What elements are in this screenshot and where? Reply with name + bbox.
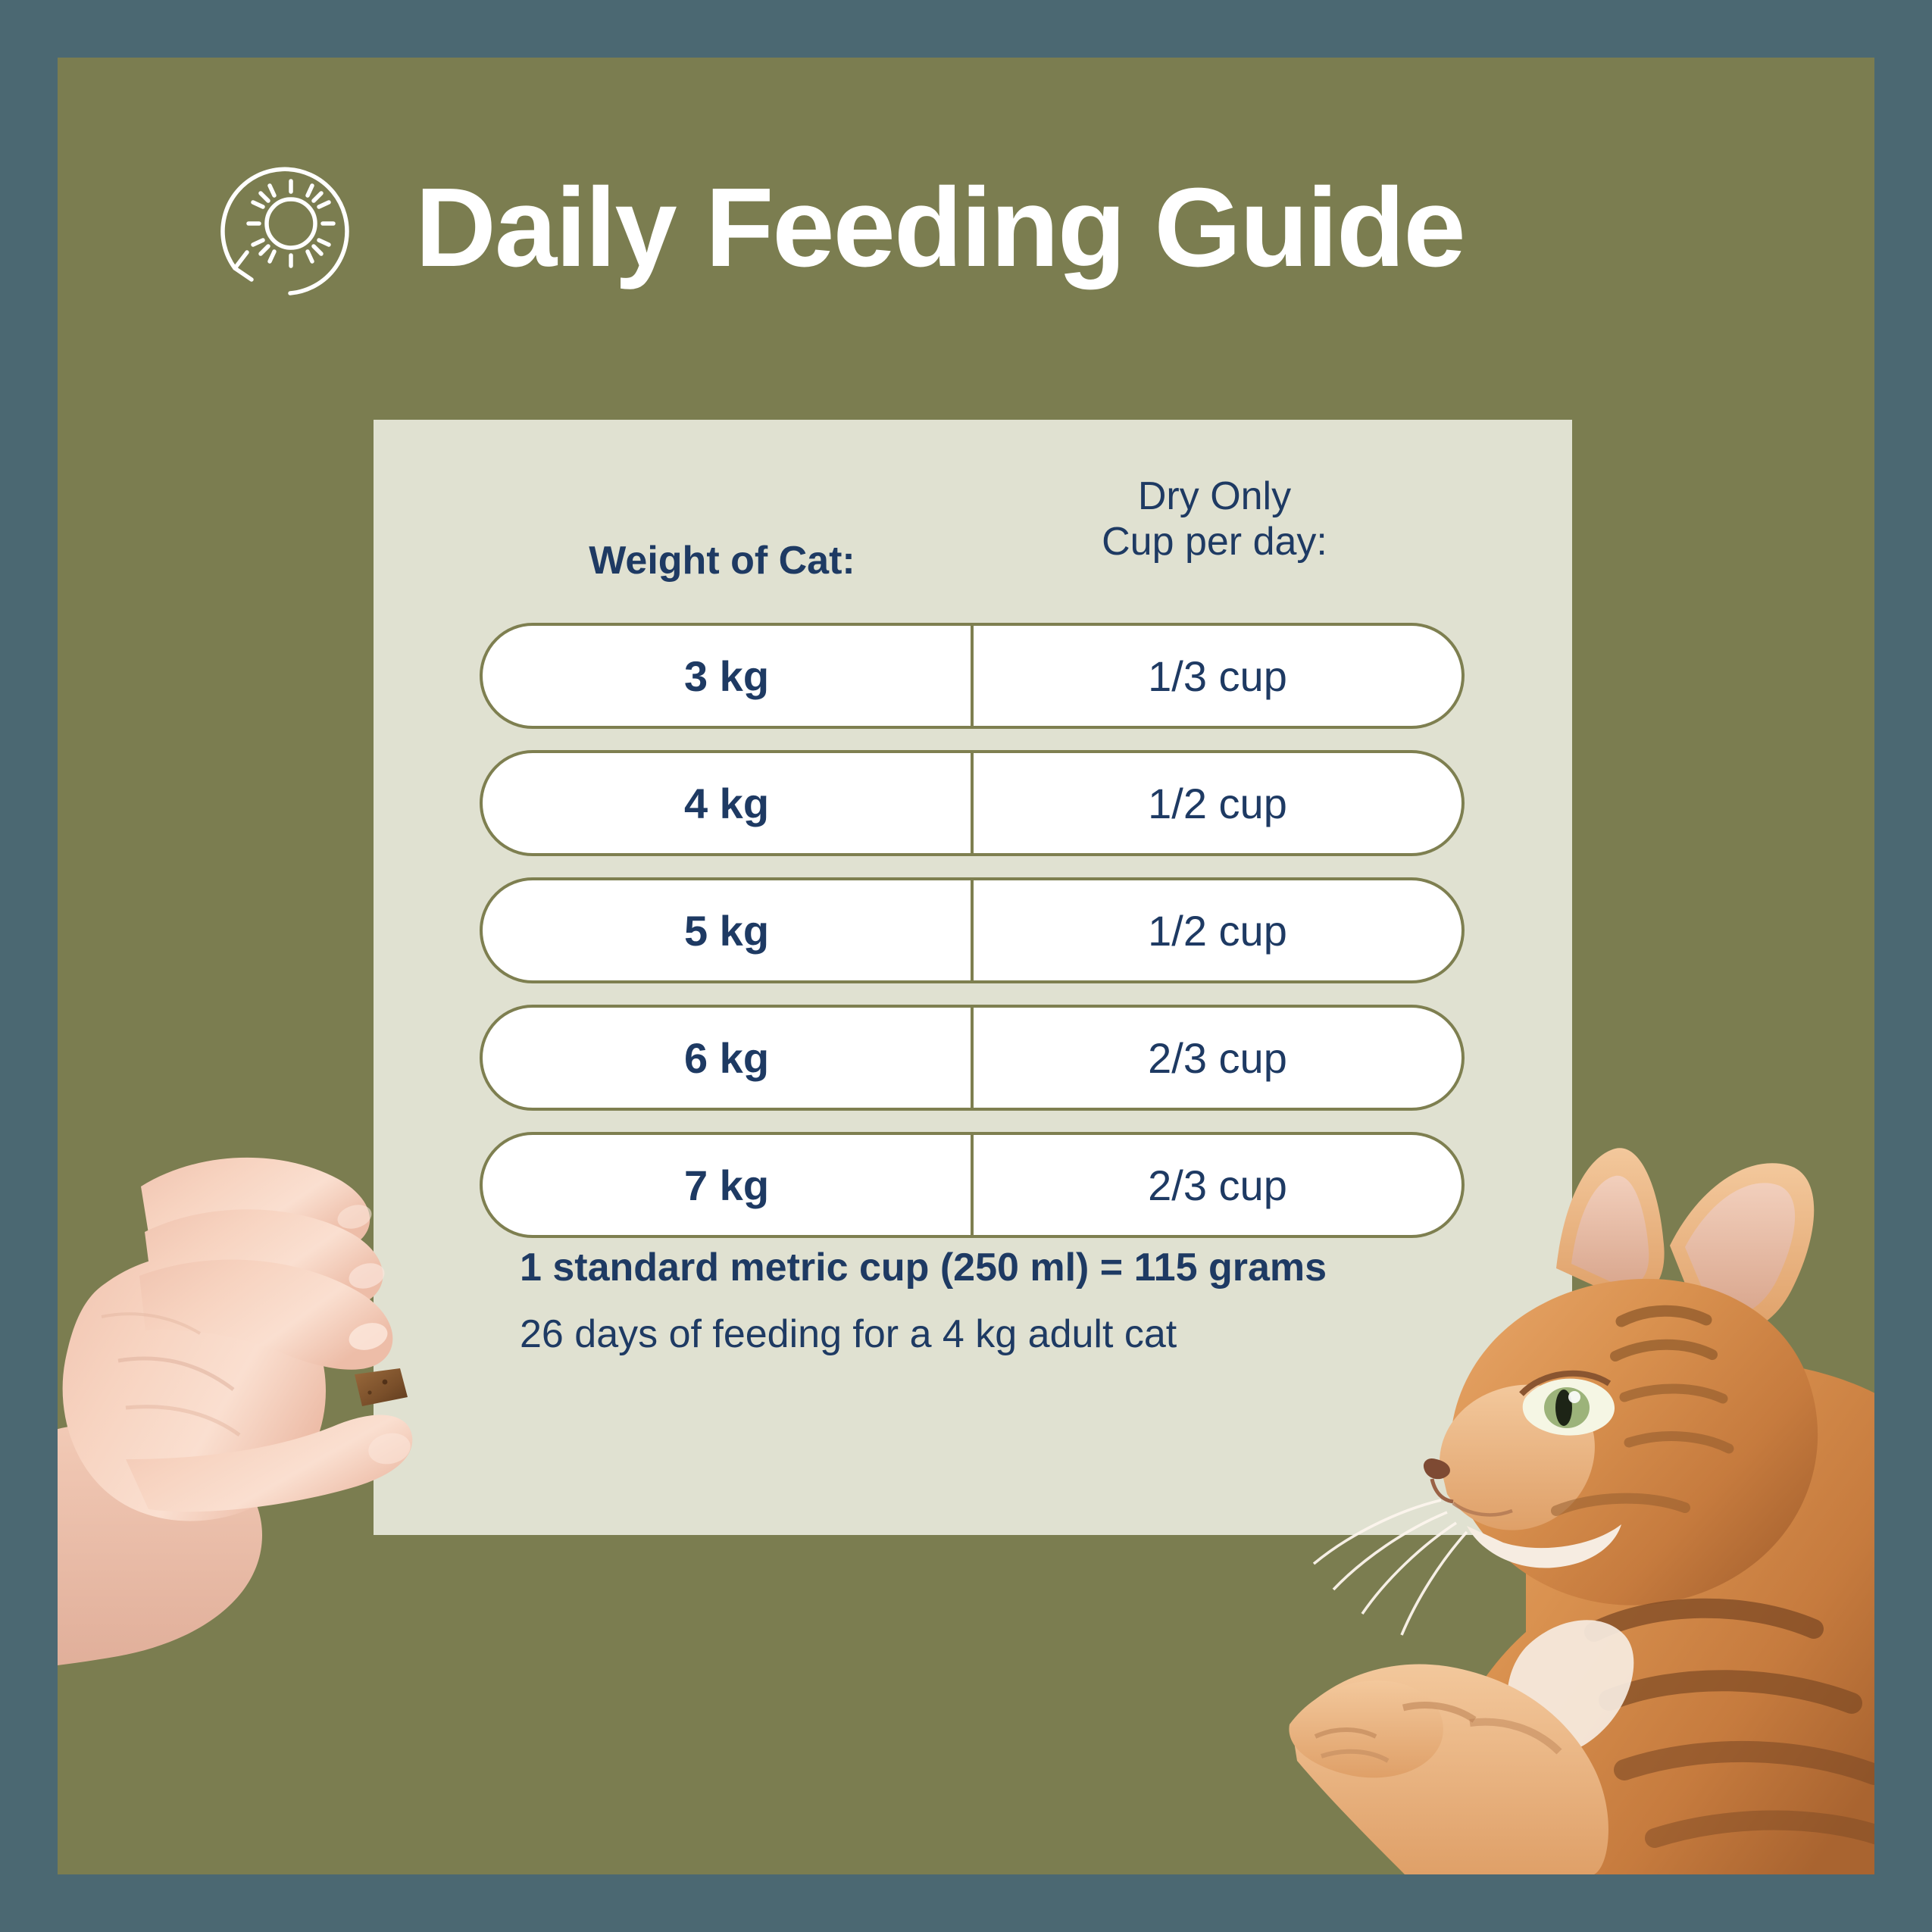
hand-holding-kibble-photo — [58, 1035, 482, 1717]
table-column-headers: Weight of Cat: Dry Only Cup per day: — [374, 420, 1572, 623]
column-header-dry-only: Dry Only — [1138, 474, 1291, 518]
orange-bengal-cat-photo — [1200, 1041, 1874, 1874]
cell-weight: 3 kg — [483, 626, 971, 726]
table-row: 5 kg 1/2 cup — [480, 877, 1465, 983]
column-header-cup-per-day: Dry Only Cup per day: — [964, 474, 1465, 565]
table-row: 3 kg 1/3 cup — [480, 623, 1465, 729]
column-header-weight: Weight of Cat: — [480, 538, 964, 583]
cell-weight: 6 kg — [483, 1008, 971, 1108]
cell-weight: 4 kg — [483, 753, 971, 853]
sun-refresh-icon — [218, 152, 370, 304]
page-header: Daily Feeding Guide — [218, 148, 1465, 308]
cell-cup-per-day: 1/2 cup — [971, 753, 1462, 853]
column-header-cup-per-day-label: Cup per day: — [964, 520, 1465, 565]
poster-canvas: Daily Feeding Guide Weight of Cat: Dry O… — [58, 58, 1874, 1874]
page-title: Daily Feeding Guide — [415, 172, 1465, 284]
cell-cup-per-day: 1/3 cup — [971, 626, 1462, 726]
cell-weight: 5 kg — [483, 880, 971, 980]
cell-cup-per-day: 1/2 cup — [971, 880, 1462, 980]
cell-weight: 7 kg — [483, 1135, 971, 1235]
table-row: 4 kg 1/2 cup — [480, 750, 1465, 856]
